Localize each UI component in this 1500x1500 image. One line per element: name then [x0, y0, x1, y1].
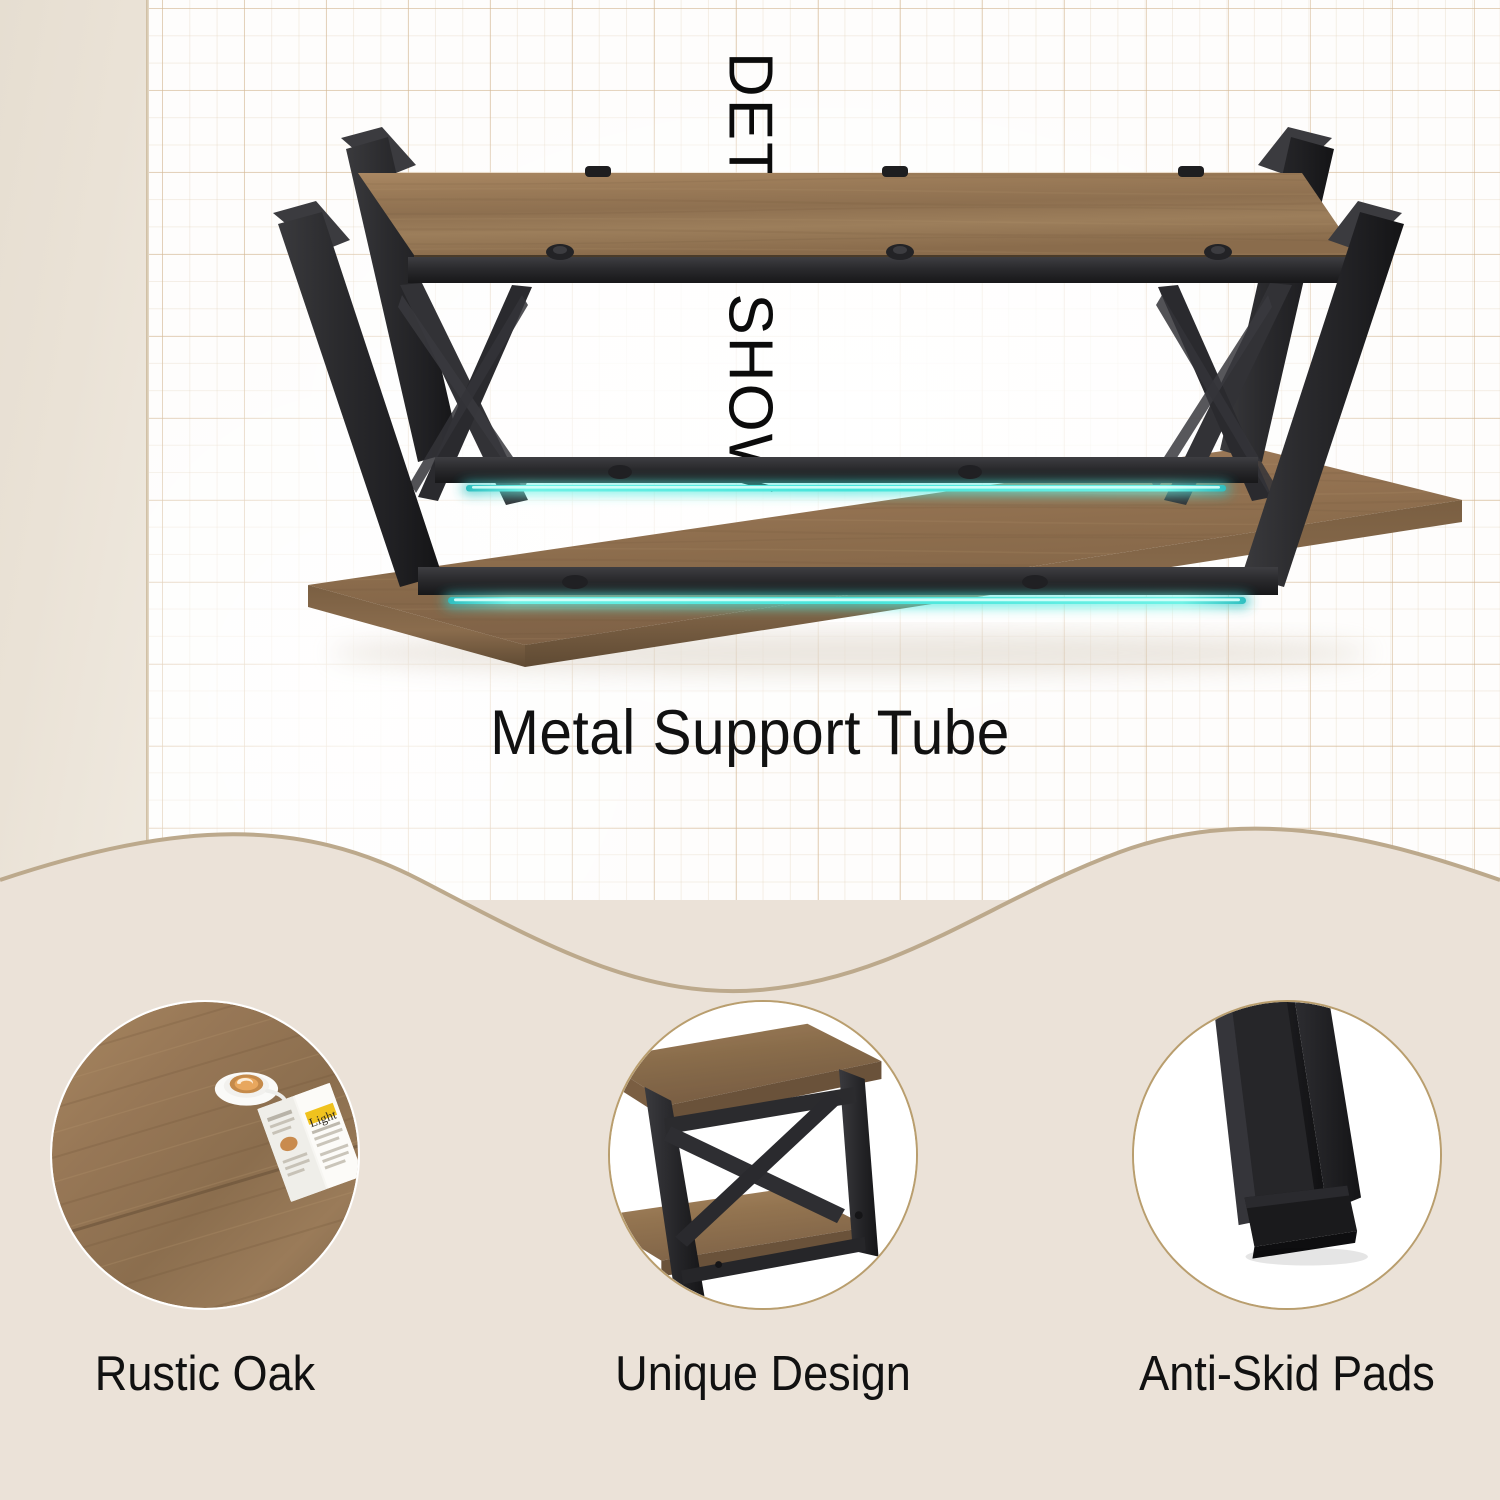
- feature-image-unique-design: [608, 1000, 918, 1310]
- product-detail-page: DETAIL SHOW: [0, 0, 1500, 1500]
- led-strip-front: [444, 595, 1250, 607]
- feature-highlights: Light Rustic Oak: [0, 1000, 1500, 1460]
- top-frame-rail: [408, 257, 1362, 283]
- feature-label-unique-design: Unique Design: [611, 1346, 915, 1402]
- feature-image-anti-skid-pads: [1132, 1000, 1442, 1310]
- feature-unique-design: Unique Design: [598, 1000, 928, 1402]
- feature-label-rustic-oak: Rustic Oak: [53, 1346, 357, 1402]
- feature-image-rustic-oak: Light: [50, 1000, 360, 1310]
- led-strip-back: [462, 483, 1230, 494]
- main-caption: Metal Support Tube: [53, 697, 1448, 769]
- feature-label-anti-skid-pads: Anti-Skid Pads: [1135, 1346, 1439, 1402]
- feature-rustic-oak: Light Rustic Oak: [40, 1000, 370, 1402]
- product-render-console-table: [210, 105, 1470, 685]
- feature-anti-skid-pads: Anti-Skid Pads: [1122, 1000, 1452, 1402]
- lower-rail-front: [418, 567, 1278, 595]
- lower-rail-back: [435, 457, 1258, 483]
- leg-foot-pad-icon: [1134, 1002, 1440, 1308]
- console-table-illustration: [210, 105, 1470, 685]
- x-brace-frame-icon: [610, 1002, 916, 1308]
- tabletop-with-coffee-icon: Light: [52, 1002, 358, 1308]
